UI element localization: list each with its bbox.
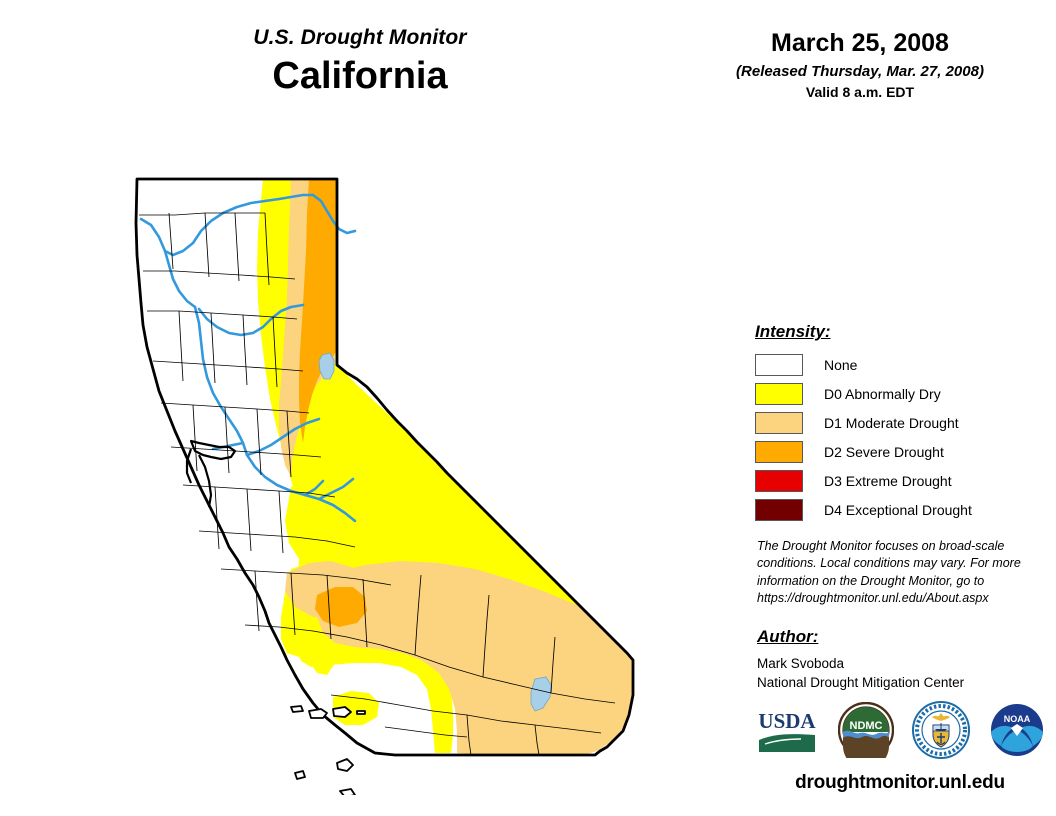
- partner-logos: USDA NDMC: [755, 700, 1045, 764]
- legend-item-d3: D3 Extreme Drought: [755, 467, 1040, 494]
- noaa-logo: NOAA: [989, 702, 1045, 763]
- legend-item-d0: D0 Abnormally Dry: [755, 380, 1040, 407]
- website-url: droughtmonitor.unl.edu: [755, 772, 1045, 794]
- valid-time: Valid 8 a.m. EDT: [700, 85, 1020, 100]
- legend-item-d4: D4 Exceptional Drought: [755, 496, 1040, 523]
- disclaimer-text: The Drought Monitor focuses on broad-sca…: [757, 538, 1032, 607]
- author-block: Author: Mark Svoboda National Drought Mi…: [757, 627, 1037, 692]
- map-date: March 25, 2008: [700, 30, 1020, 58]
- legend-label-d3: D3 Extreme Drought: [824, 473, 952, 489]
- legend-swatch-d3: [755, 470, 803, 492]
- map-drought-layers: [95, 155, 675, 795]
- legend-swatch-none: [755, 354, 803, 376]
- state-title: California: [150, 55, 570, 99]
- legend-item-none: None: [755, 351, 1040, 378]
- legend-swatch-d1: [755, 412, 803, 434]
- legend-title: Intensity:: [755, 322, 1040, 342]
- legend-label-d2: D2 Severe Drought: [824, 444, 944, 460]
- legend-item-d1: D1 Moderate Drought: [755, 409, 1040, 436]
- usda-logo-text: USDA: [758, 709, 816, 733]
- usdoc-seal-logo: [912, 701, 970, 764]
- intensity-legend: Intensity: None D0 Abnormally Dry D1 Mod…: [755, 322, 1040, 525]
- legend-swatch-d2: [755, 441, 803, 463]
- legend-label-d4: D4 Exceptional Drought: [824, 502, 972, 518]
- program-title: U.S. Drought Monitor: [150, 26, 570, 49]
- release-date: (Released Thursday, Mar. 27, 2008): [700, 64, 1020, 81]
- legend-item-d2: D2 Severe Drought: [755, 438, 1040, 465]
- header-title-block: U.S. Drought Monitor California: [150, 26, 570, 99]
- ndmc-logo: NDMC: [838, 702, 894, 763]
- noaa-logo-text: NOAA: [1004, 714, 1031, 724]
- author-name: Mark Svoboda: [757, 655, 1037, 674]
- usda-logo: USDA: [755, 704, 819, 761]
- legend-label-d1: D1 Moderate Drought: [824, 415, 959, 431]
- author-affiliation: National Drought Mitigation Center: [757, 674, 1037, 693]
- legend-label-none: None: [824, 357, 857, 373]
- legend-label-d0: D0 Abnormally Dry: [824, 386, 941, 402]
- legend-swatch-d4: [755, 499, 803, 521]
- ndmc-logo-text: NDMC: [849, 720, 882, 732]
- author-heading: Author:: [757, 627, 1037, 647]
- header-date-block: March 25, 2008 (Released Thursday, Mar. …: [700, 30, 1020, 100]
- map-svg: [95, 155, 675, 795]
- legend-swatch-d0: [755, 383, 803, 405]
- california-drought-map: [95, 155, 675, 795]
